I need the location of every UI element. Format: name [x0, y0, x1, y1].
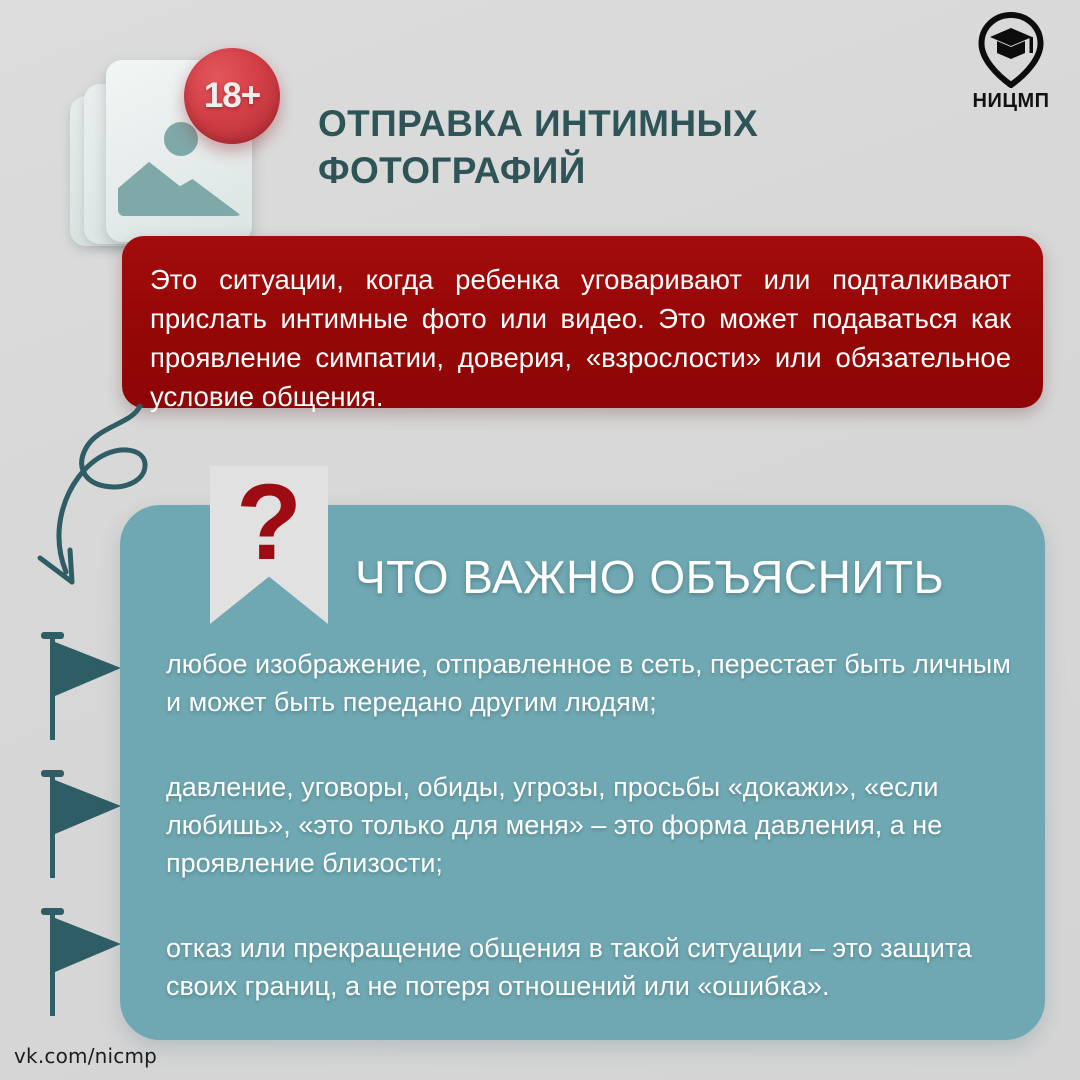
list-item: любое изображение, отправленное в сеть, …	[166, 645, 1022, 722]
intro-text: Это ситуации, когда ребенка уговаривают …	[150, 260, 1011, 416]
logo-text: НИЦМП	[973, 90, 1050, 113]
image-mountain-shape	[118, 150, 242, 216]
stacked-photos-icon: 18+	[66, 44, 326, 249]
explain-list: любое изображение, отправленное в сеть, …	[166, 645, 1022, 1005]
list-item: отказ или прекращение общения в такой си…	[166, 929, 1022, 1006]
graduation-cap-pin-icon	[978, 12, 1044, 88]
intro-red-block: Это ситуации, когда ребенка уговаривают …	[122, 236, 1043, 408]
age-rating-badge: 18+	[184, 48, 280, 144]
pennant-flag-icon	[28, 764, 124, 880]
pennant-flag-icon	[28, 902, 124, 1018]
brand-logo: НИЦМП	[956, 12, 1066, 118]
pennant-flag-icon	[28, 626, 124, 742]
footer-link[interactable]: vk.com/nicmp	[14, 1044, 157, 1068]
panel-heading: ЧТО ВАЖНО ОБЪЯСНИТЬ	[355, 533, 975, 621]
image-sun-shape	[164, 122, 198, 156]
age-rating-label: 18+	[204, 76, 260, 116]
infographic-page: НИЦМП 18+ ОТПРАВКА ИНТИМНЫХ ФОТОГРАФИЙ Э…	[0, 0, 1080, 1080]
page-title: ОТПРАВКА ИНТИМНЫХ ФОТОГРАФИЙ	[318, 100, 878, 195]
question-mark-icon: ?	[210, 452, 328, 592]
list-item: давление, уговоры, обиды, угрозы, просьб…	[166, 768, 1022, 883]
